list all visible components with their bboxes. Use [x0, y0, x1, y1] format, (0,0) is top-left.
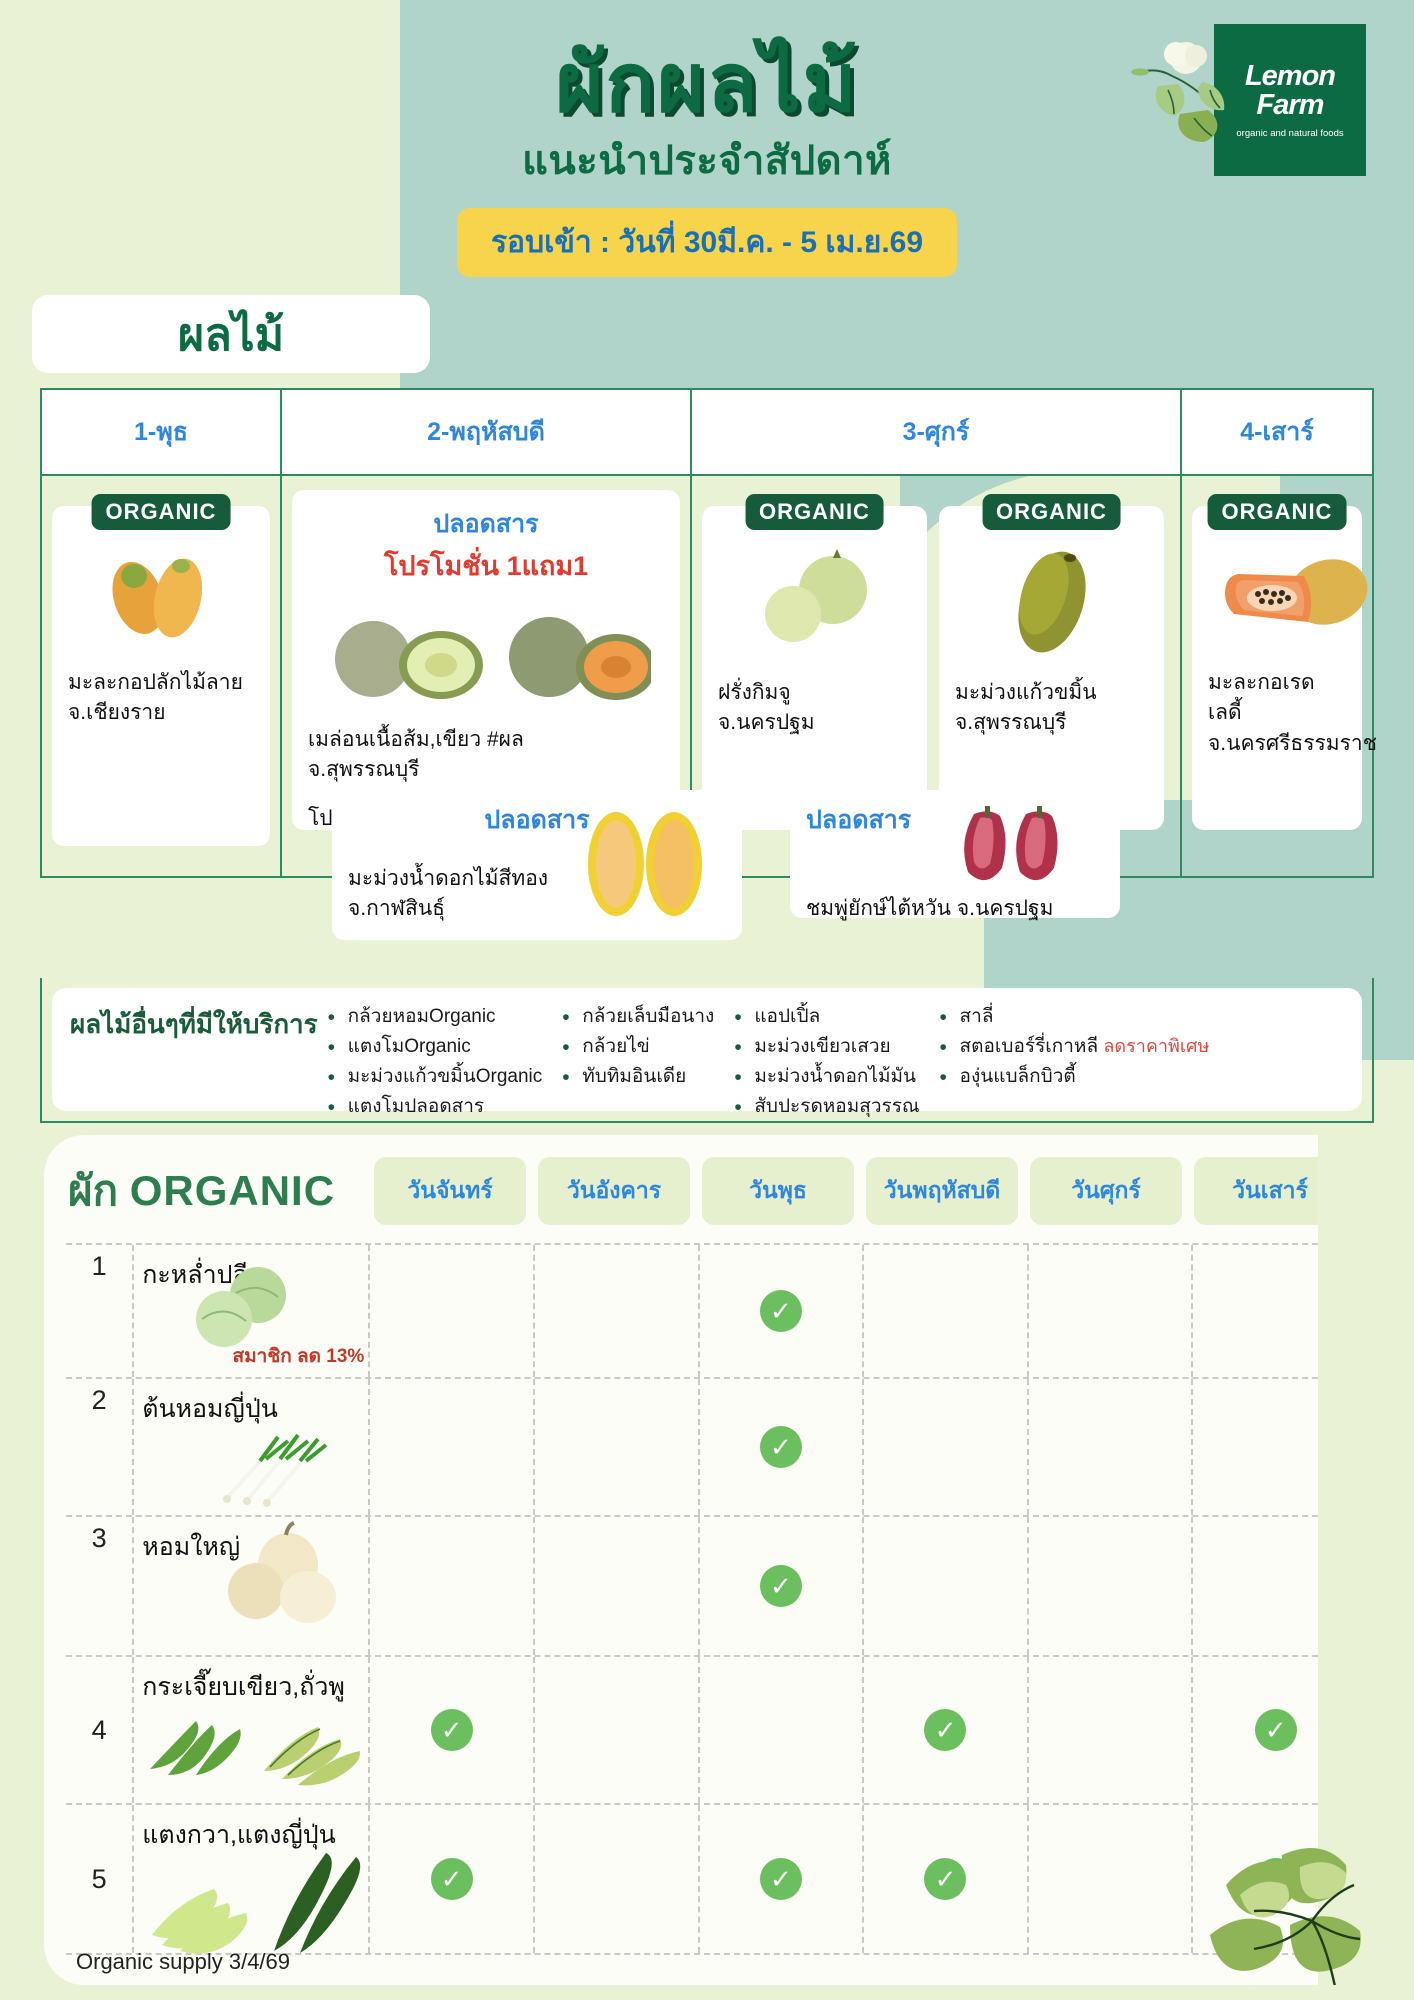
list-item: กล้วยเล็บมือนาง	[562, 1002, 714, 1032]
cell-thursday	[864, 1245, 1029, 1377]
vegetable-title-organic: ORGANIC	[130, 1167, 335, 1214]
row-product: กระเจี๊ยบเขียว,ถั่วพู	[134, 1657, 370, 1803]
supply-footnote: Organic supply 3/4/69	[76, 1949, 290, 1975]
cell-monday	[370, 1517, 535, 1655]
row-number: 3	[66, 1517, 134, 1655]
organic-badge: ORGANIC	[982, 494, 1121, 530]
check-icon: ✓	[431, 1858, 473, 1900]
list-item: องุ่นแบล็กบิวตี้	[940, 1062, 1210, 1092]
organic-badge: ORGANIC	[92, 494, 231, 530]
list-item: มะม่วงน้ำดอกไม้มัน	[734, 1062, 919, 1092]
cell-monday	[370, 1379, 535, 1515]
brand-logo: Lemon Farm organic and natural foods	[1214, 24, 1366, 176]
papaya-cut-icon	[1208, 536, 1388, 656]
table-row: 2 ต้นหอมญี่ปุ่น	[66, 1379, 1358, 1517]
day-header-wednesday: วันพุธ	[702, 1157, 854, 1225]
fruit-col-header-4: 4-เสาร์	[1182, 390, 1372, 474]
cell-friday	[1029, 1657, 1194, 1803]
cell-wednesday: ✓	[700, 1379, 865, 1515]
check-icon: ✓	[760, 1858, 802, 1900]
day-header-friday: วันศุกร์	[1030, 1157, 1182, 1225]
cell-thursday	[864, 1517, 1029, 1655]
mango-green-icon	[982, 536, 1122, 666]
fruit-card: ปลอดสาร โปรโมชั่น 1แถม1 เมล่อนเนื้อส้ม,เ…	[292, 490, 680, 830]
check-icon: ✓	[760, 1565, 802, 1607]
other-fruits-column: สาลี่ สตอเบอร์รี่เกาหลี ลดราคาพิเศษ องุ่…	[940, 1002, 1210, 1092]
cabbage-icon	[180, 1263, 300, 1353]
plodsan-badge: ปลอดสาร	[308, 504, 664, 544]
cell-thursday	[864, 1379, 1029, 1515]
list-item: กล้วยไข่	[562, 1032, 714, 1062]
date-range-badge: รอบเข้า : วันที่ 30มี.ค. - 5 เม.ย.69	[457, 208, 957, 277]
table-row: 3 หอมใหญ่ ✓	[66, 1517, 1358, 1657]
fruit-card: ปลอดสาร มะม่วงน้ำดอกไม้สีทอง จ.กาฬสินธุ์	[332, 790, 742, 940]
vegetable-schedule-panel: ผัก ORGANIC วันจันทร์ วันอังคาร วันพุธ ว…	[44, 1135, 1380, 1985]
poster-root: ผักผลไม้ แนะนำประจำสัปดาห์ รอบเข้า : วัน…	[0, 0, 1414, 2000]
cell-friday	[1029, 1517, 1194, 1655]
vegetable-grid: 1 กะหล่ำปลี สมาชิก ลด 13% ✓	[66, 1243, 1358, 1955]
fruit-section-label: ผลไม้	[178, 298, 284, 370]
onion-icon	[222, 1521, 342, 1631]
okra-winged-bean-icon	[138, 1693, 368, 1797]
table-row: 5 แตงกวา,แตงญี่ปุ่น	[66, 1805, 1358, 1955]
logo-name-line2: Farm	[1257, 91, 1324, 120]
fruit-card: ORGANIC มะม่วงแก้วขมิ้น จ.สุพรรณบุรี	[939, 506, 1164, 830]
day-header-tuesday: วันอังคาร	[538, 1157, 690, 1225]
rose-apple-icon	[932, 800, 1072, 900]
promo-label: โปรโมชั่น 1แถม1	[308, 544, 664, 587]
fruit-column-saturday: ORGANIC มะละกอเรดเลดี้	[1182, 476, 1372, 876]
fruit-card: ORGANIC มะละกอปลักไม้ลาย จ.เชียงราย	[52, 506, 270, 846]
cell-thursday: ✓	[864, 1805, 1029, 1953]
fruit-section-tab: ผลไม้	[32, 295, 430, 373]
sale-badge: ลดราคาพิเศษ	[1103, 1036, 1209, 1056]
logo-name-line1: Lemon	[1245, 62, 1335, 91]
fruit-col-header-3: 3-ศุกร์	[692, 390, 1182, 474]
leaf-branch-icon	[1128, 36, 1258, 156]
mango-yellow-icon	[570, 804, 720, 924]
row-product: หอมใหญ่	[134, 1517, 370, 1655]
row-number: 4	[66, 1657, 134, 1803]
discount-label: สมาชิก ลด 13%	[233, 1341, 365, 1371]
fruit-card-province: จ.สุพรรณบุรี	[308, 755, 664, 785]
other-fruits-card: ผลไม้อื่นๆที่มีให้บริการ กล้วยหอมOrganic…	[52, 988, 1362, 1111]
organic-badge: ORGANIC	[1208, 494, 1347, 530]
row-number: 1	[66, 1245, 134, 1377]
cell-thursday: ✓	[864, 1657, 1029, 1803]
fruit-column-wednesday: ORGANIC มะละกอปลักไม้ลาย จ.เชียงราย	[42, 476, 282, 876]
list-item: สตอเบอร์รี่เกาหลี ลดราคาพิเศษ	[940, 1032, 1210, 1062]
check-icon: ✓	[760, 1426, 802, 1468]
fruit-card-province: จ.เชียงราย	[68, 698, 254, 728]
cucumber-icon	[138, 1839, 368, 1955]
fruit-col-header-2: 2-พฤหัสบดี	[282, 390, 692, 474]
list-item: มะม่วงเขียวเสวย	[734, 1032, 919, 1062]
parsley-decoration-icon	[1186, 1815, 1376, 1985]
check-icon: ✓	[924, 1858, 966, 1900]
list-item: กล้วยหอมOrganic	[328, 1002, 543, 1032]
fruit-card-name: มะละกอเรดเลดี้	[1208, 668, 1346, 729]
row-product: กะหล่ำปลี สมาชิก ลด 13%	[134, 1245, 370, 1377]
papaya-whole-icon	[86, 536, 236, 656]
cell-tuesday	[535, 1805, 700, 1953]
cell-tuesday	[535, 1517, 700, 1655]
vegetable-title: ผัก ORGANIC	[68, 1158, 368, 1224]
list-item: แตงโมปลอดสาร	[328, 1092, 543, 1122]
table-row: 4 กระเจี๊ยบเขียว,ถั่วพู	[66, 1657, 1358, 1805]
cell-monday	[370, 1245, 535, 1377]
fruit-card-name: มะละกอปลักไม้ลาย	[68, 668, 254, 698]
spring-onion-icon	[214, 1421, 334, 1507]
fruit-card: ORGANIC ฝรั่งกิมจู จ.นครปฐม	[702, 506, 927, 830]
vegetable-title-thai: ผัก	[68, 1167, 118, 1214]
cell-wednesday	[700, 1657, 865, 1803]
row-product: ต้นหอมญี่ปุ่น	[134, 1379, 370, 1515]
check-icon: ✓	[760, 1290, 802, 1332]
other-fruits-column: กล้วยเล็บมือนาง กล้วยไข่ ทับทิมอินเดีย	[562, 1002, 714, 1092]
vegetable-header: ผัก ORGANIC วันจันทร์ วันอังคาร วันพุธ ว…	[44, 1135, 1380, 1235]
list-item: แอปเปิ้ล	[734, 1002, 919, 1032]
cell-wednesday: ✓	[700, 1805, 865, 1953]
cell-wednesday: ✓	[700, 1245, 865, 1377]
day-header-thursday: วันพฤหัสบดี	[866, 1157, 1018, 1225]
day-header-monday: วันจันทร์	[374, 1157, 526, 1225]
fruit-row-2: ปลอดสาร มะม่วงน้ำดอกไม้สีทอง จ.กาฬสินธุ์…	[282, 790, 1182, 952]
fruit-card-province: จ.นครศรีธรรมราช	[1208, 729, 1346, 759]
cell-friday	[1029, 1245, 1194, 1377]
list-item: สับปะรดหอมสุวรรณ	[734, 1092, 919, 1122]
fruit-card-name: มะม่วงแก้วขมิ้น	[955, 678, 1148, 708]
check-icon: ✓	[924, 1709, 966, 1751]
list-item: สาลี่	[940, 1002, 1210, 1032]
other-fruits-column: กล้วยหอมOrganic แตงโมOrganic มะม่วงแก้วข…	[328, 1002, 543, 1122]
fruit-table-header: 1-พุธ 2-พฤหัสบดี 3-ศุกร์ 4-เสาร์	[42, 390, 1372, 476]
row-product: แตงกวา,แตงญี่ปุ่น	[134, 1805, 370, 1953]
table-row: 1 กะหล่ำปลี สมาชิก ลด 13% ✓	[66, 1243, 1358, 1379]
fruit-card-name: เมล่อนเนื้อส้ม,เขียว #ผล	[308, 725, 664, 755]
cell-tuesday	[535, 1379, 700, 1515]
list-item: ทับทิมอินเดีย	[562, 1062, 714, 1092]
other-fruits-title: ผลไม้อื่นๆที่มีให้บริการ	[70, 1002, 318, 1045]
check-icon: ✓	[1255, 1709, 1297, 1751]
organic-badge: ORGANIC	[745, 494, 884, 530]
check-icon: ✓	[431, 1709, 473, 1751]
fruit-schedule-table: 1-พุธ 2-พฤหัสบดี 3-ศุกร์ 4-เสาร์ ORGANIC…	[40, 388, 1374, 878]
list-item-label: สตอเบอร์รี่เกาหลี	[960, 1036, 1099, 1057]
other-fruits-section: ผลไม้อื่นๆที่มีให้บริการ กล้วยหอมOrganic…	[40, 978, 1374, 1123]
melon-icon	[321, 603, 651, 713]
cell-tuesday	[535, 1245, 700, 1377]
fruit-card-province: จ.นครปฐม	[718, 708, 911, 738]
cell-friday	[1029, 1379, 1194, 1515]
list-item: แตงโมOrganic	[328, 1032, 543, 1062]
fruit-card: ปลอดสาร ชมพู่ยักษ์ไต้หวัน จ.นครปฐม	[790, 790, 1120, 918]
fruit-col-header-1: 1-พุธ	[42, 390, 282, 474]
fruit-card: ORGANIC มะละกอเรดเลดี้	[1192, 506, 1362, 830]
guava-icon	[745, 536, 885, 666]
cell-monday: ✓	[370, 1805, 535, 1953]
cell-monday: ✓	[370, 1657, 535, 1803]
list-item: มะม่วงแก้วขมิ้นOrganic	[328, 1062, 543, 1092]
cell-wednesday: ✓	[700, 1517, 865, 1655]
other-fruits-column: แอปเปิ้ล มะม่วงเขียวเสวย มะม่วงน้ำดอกไม้…	[734, 1002, 919, 1122]
cell-tuesday	[535, 1657, 700, 1803]
row-number: 5	[66, 1805, 134, 1953]
row-number: 2	[66, 1379, 134, 1515]
cell-friday	[1029, 1805, 1194, 1953]
fruit-card-name: ฝรั่งกิมจู	[718, 678, 911, 708]
fruit-card-province: จ.สุพรรณบุรี	[955, 708, 1148, 738]
